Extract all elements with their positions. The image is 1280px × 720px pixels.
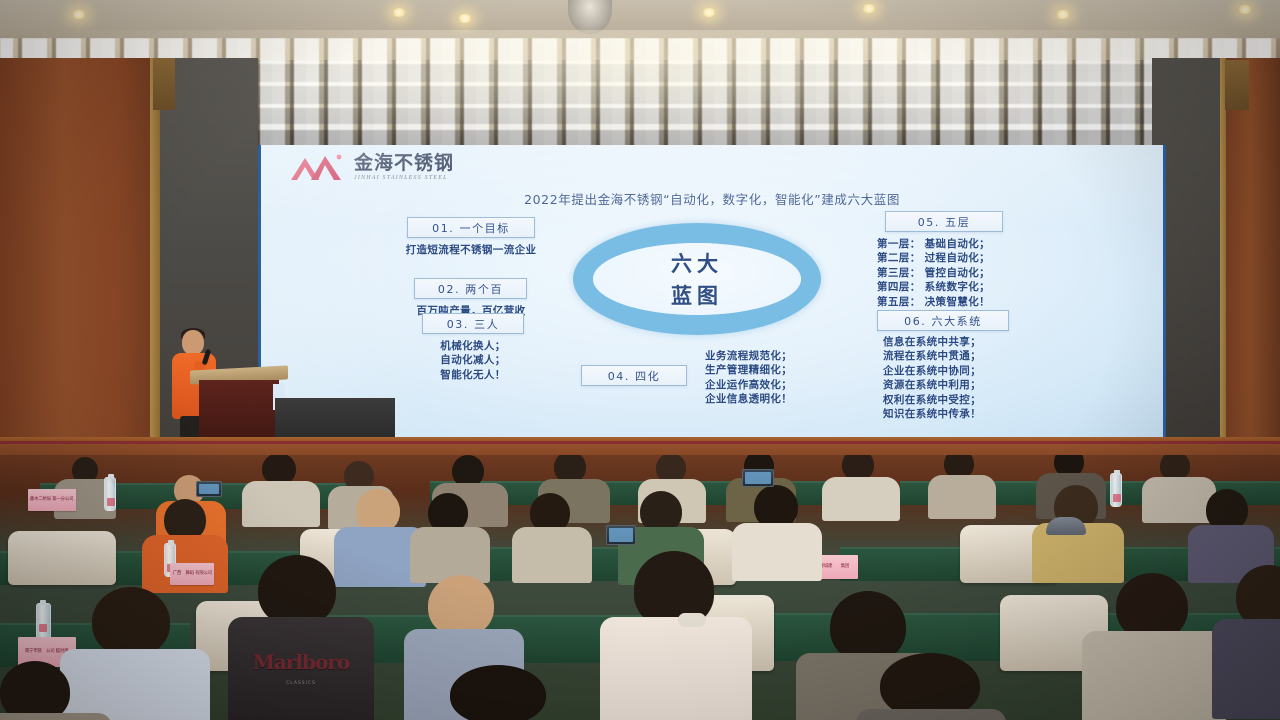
graphic-tee: Marlboro CLASSICS <box>228 617 374 720</box>
ceiling-spotlight <box>392 8 406 17</box>
block-chip-04[interactable]: 04. 四化 <box>581 365 687 386</box>
double-mountain-logo-icon <box>289 153 347 181</box>
block-chip-06[interactable]: 06. 六大系统 <box>877 310 1009 331</box>
ceiling-spotlight <box>1238 5 1252 14</box>
smartphone[interactable] <box>606 525 636 545</box>
wall-trim-left <box>150 58 160 458</box>
wall-panel-left <box>0 58 158 458</box>
block-body-01: 打造短流程不锈钢一流企业 <box>385 243 557 257</box>
stage-side-table <box>275 398 395 442</box>
logo-english-name: JINHAI STAINLESS STEEL <box>354 175 454 181</box>
audience-area: 藤木二桥局 第一分公司 <box>0 455 1280 720</box>
wall-fixture-left <box>153 58 175 110</box>
podium <box>190 368 288 448</box>
center-ring-graphic: 六大 蓝图 <box>573 223 821 335</box>
baseball-cap <box>1046 517 1086 535</box>
water-bottle <box>104 477 116 511</box>
block-chip-03[interactable]: 03. 三人 <box>422 313 524 334</box>
center-ring-line1: 六大 <box>671 248 723 278</box>
center-ring-line2: 蓝图 <box>671 280 723 310</box>
name-card: 藤木二桥局 第一分公司 <box>28 489 76 511</box>
ceiling-spotlight <box>862 4 876 13</box>
wall-panel-right <box>1226 58 1280 458</box>
ceiling-spotlight <box>72 10 86 19</box>
block-body-06: 信息在系统中共享； 流程在系统中贯通； 企业在系统中协同； 资源在系统中利用； … <box>883 335 1063 422</box>
tee-sub-text: CLASSICS <box>228 681 374 686</box>
wall-fixture-right <box>1225 60 1249 110</box>
ceiling-spotlight <box>458 14 472 23</box>
ceiling-spotlight <box>702 8 716 17</box>
company-logo: 金海不锈钢 JINHAI STAINLESS STEEL <box>289 153 454 181</box>
block-body-05: 第一层： 基础自动化； 第二层： 过程自动化； 第三层： 管控自动化； 第四层：… <box>877 237 1067 309</box>
block-chip-01[interactable]: 01. 一个目标 <box>407 217 535 238</box>
ceiling-spotlight <box>1056 10 1070 19</box>
block-body-03: 机械化换人； 自动化减人； 智能化无人！ <box>413 339 533 382</box>
block-chip-02[interactable]: 02. 两个百 <box>414 278 527 299</box>
smartphone[interactable] <box>742 469 774 487</box>
block-chip-05[interactable]: 05. 五层 <box>885 211 1003 232</box>
logo-chinese-name: 金海不锈钢 <box>354 154 454 173</box>
block-body-04: 业务流程规范化； 生产管理精细化； 企业运作高效化； 企业信息透明化！ <box>705 349 865 407</box>
smartphone[interactable] <box>196 481 222 497</box>
chair <box>8 531 116 585</box>
water-bottle <box>1110 473 1122 507</box>
slide-title: 2022年提出金海不锈钢“自动化，数字化，智能化”建成六大蓝图 <box>261 189 1163 208</box>
tee-brand-text: Marlboro <box>228 650 374 674</box>
name-card: 广西 舞蹈 有限公司 <box>170 563 214 585</box>
hair-tie <box>678 613 706 627</box>
screenshot-root: 金海不锈钢 JINHAI STAINLESS STEEL 2022年提出金海不锈… <box>0 0 1280 720</box>
projection-screen: 金海不锈钢 JINHAI STAINLESS STEEL 2022年提出金海不锈… <box>258 145 1166 441</box>
presenter-head <box>182 330 204 355</box>
